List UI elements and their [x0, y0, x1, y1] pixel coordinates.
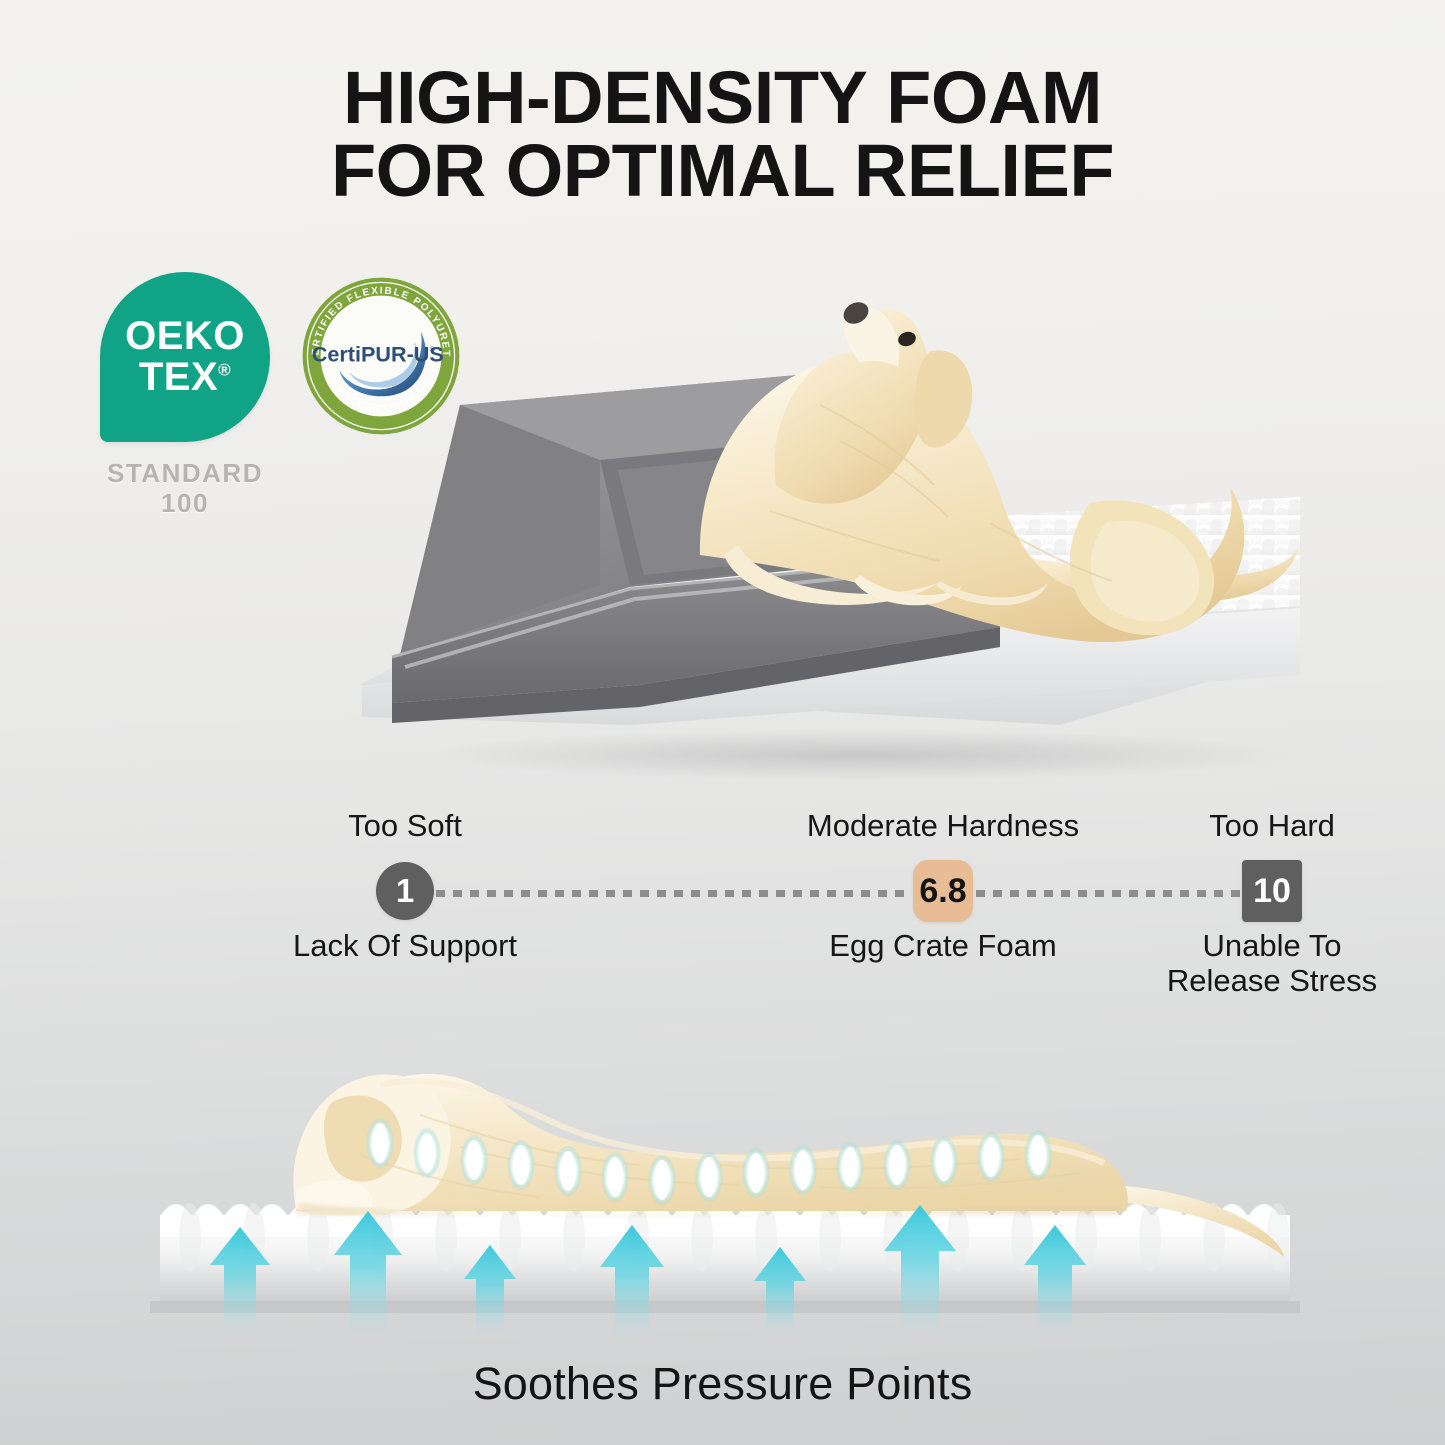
page-title: HIGH-DENSITY FOAM FOR OPTIMAL RELIEF [0, 62, 1445, 207]
page-title-line-2: FOR OPTIMAL RELIEF [0, 135, 1445, 208]
scale-desc-egg-crate-foam: Egg Crate Foam [829, 928, 1056, 963]
scale-marker-value: 6.8 [913, 860, 973, 922]
oeko-tex-standard-line-1: STANDARD [100, 458, 270, 488]
oeko-tex-line-2: TEX® [139, 357, 231, 398]
scale-marker-min: 1 [376, 862, 434, 920]
oeko-tex-line-1: OEKO [125, 316, 245, 357]
scale-label-moderate: Moderate Hardness [807, 808, 1079, 843]
scale-marker-max: 10 [1242, 860, 1302, 922]
page-title-line-1: HIGH-DENSITY FOAM [343, 56, 1102, 139]
scale-label-too-hard: Too Hard [1209, 808, 1335, 843]
dog-sleeping-on-foam-illustration [120, 1005, 1330, 1345]
dog-figure [700, 298, 1300, 642]
hardness-scale: Too Soft Moderate Hardness Too Hard 1 6.… [120, 808, 1330, 993]
scale-desc-right-line-2: Release Stress [1167, 963, 1377, 998]
oeko-tex-badge: OEKO TEX® STANDARD 100 [100, 272, 270, 518]
hero-product-photo [300, 255, 1310, 785]
oeko-tex-standard-label: STANDARD 100 [100, 458, 270, 518]
bottom-caption: Soothes Pressure Points [0, 1358, 1445, 1410]
scale-dash-segment-left [436, 890, 912, 897]
scale-desc-lack-of-support: Lack Of Support [293, 928, 517, 963]
pressure-relief-photo [120, 1005, 1330, 1345]
scale-desc-unable-to-release-stress: Unable To Release Stress [1167, 928, 1377, 998]
hardness-scale-bottom-labels: Lack Of Support Egg Crate Foam Unable To… [120, 928, 1330, 998]
scale-dash-segment-right [976, 890, 1240, 897]
dog-on-bolster-bed-illustration [300, 255, 1310, 785]
oeko-tex-standard-line-2: 100 [100, 488, 270, 518]
oeko-tex-droplet-icon: OEKO TEX® [100, 272, 270, 442]
registered-mark-icon: ® [218, 361, 231, 380]
hardness-scale-top-labels: Too Soft Moderate Hardness Too Hard [120, 808, 1330, 850]
scale-label-too-soft: Too Soft [348, 808, 462, 843]
scale-desc-right-line-1: Unable To [1167, 928, 1377, 963]
hardness-scale-track: 1 6.8 10 [120, 860, 1330, 922]
